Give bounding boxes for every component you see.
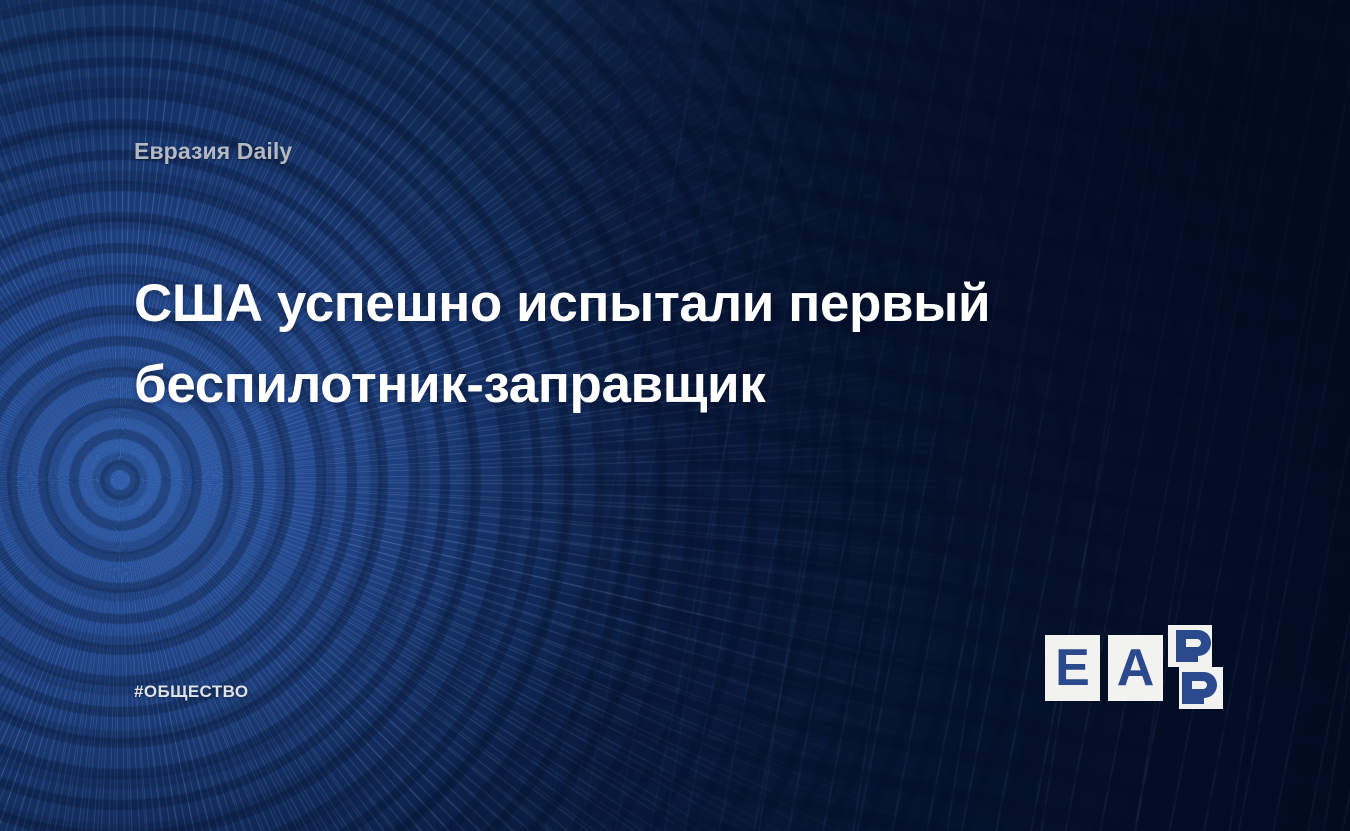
headline: США успешно испытали первый беспилотник-…	[134, 264, 1074, 425]
card-content: Евразия Daily США успешно испытали первы…	[0, 0, 1350, 831]
logo-tile-a: A	[1108, 635, 1163, 701]
headline-line-1: США успешно испытали первый	[134, 264, 1074, 345]
category-tag[interactable]: #ОБЩЕСТВО	[134, 682, 248, 702]
logo-letter-a: A	[1117, 642, 1155, 694]
logo-tile-e: E	[1045, 635, 1100, 701]
eadaily-logo[interactable]: E A	[1045, 625, 1225, 709]
publication-brand: Евразия Daily	[134, 138, 292, 165]
headline-line-2: беспилотник-заправщик	[134, 345, 1074, 426]
news-card: Евразия Daily США успешно испытали первы…	[0, 0, 1350, 831]
logo-tile-d-monogram	[1168, 625, 1223, 709]
logo-letter-e: E	[1055, 642, 1090, 694]
logo-d-monogram-icon	[1168, 625, 1223, 709]
